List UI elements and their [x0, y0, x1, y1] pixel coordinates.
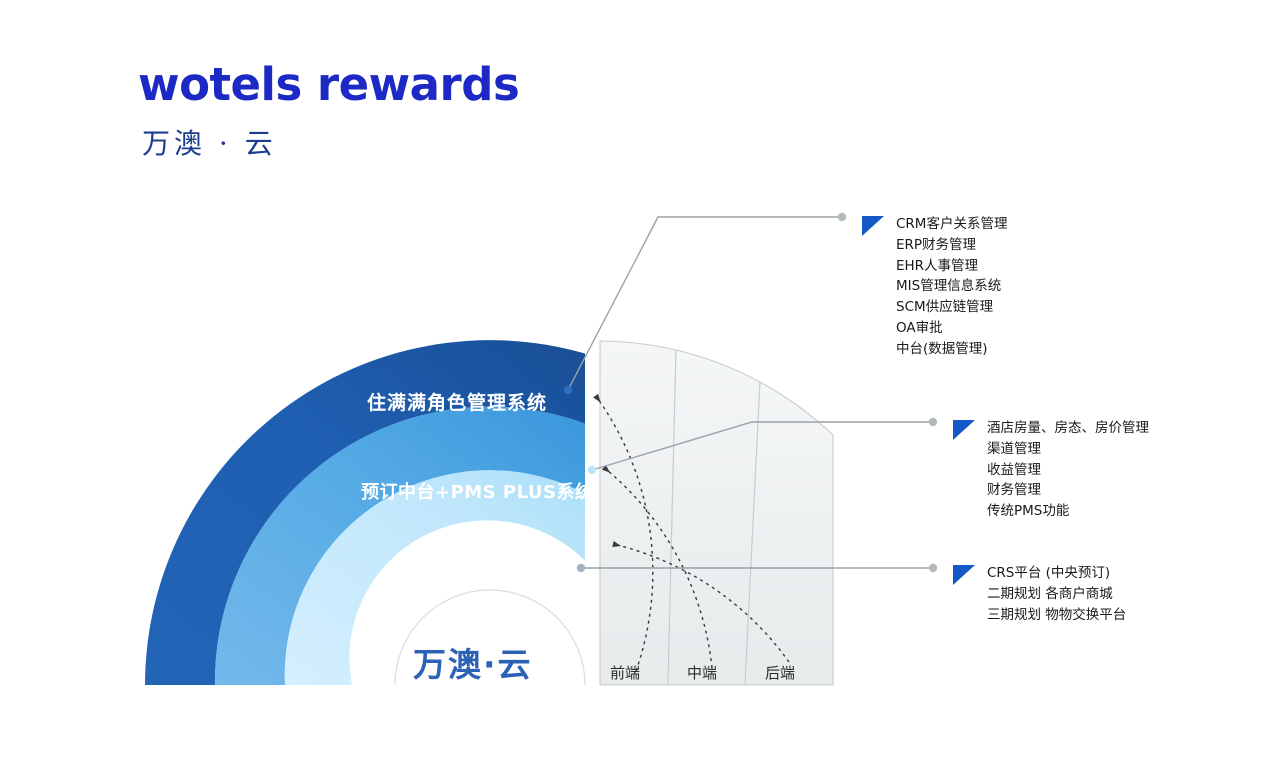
callout-item: EHR人事管理 — [896, 256, 1007, 277]
connector-anchor-dot-2 — [588, 466, 596, 474]
callout-item: 收益管理 — [987, 460, 1149, 481]
triangle-marker-icon — [953, 565, 975, 585]
tier-label-back: 后端 — [765, 662, 795, 683]
callout-item: CRS平台 (中央预订) — [987, 563, 1126, 584]
tier-band-front-end[interactable] — [600, 341, 676, 685]
tier-band-back-end[interactable] — [745, 382, 833, 685]
tier-label-front: 前端 — [610, 662, 640, 683]
callout-item: 渠道管理 — [987, 439, 1149, 460]
callout-item: 三期规划 物物交换平台 — [987, 605, 1126, 626]
callout-item: 传统PMS功能 — [987, 501, 1149, 522]
connector-end-dot-2 — [929, 418, 937, 426]
ring-label-outer: 住满满角色管理系统 — [367, 388, 547, 415]
connector-anchor-dot-1 — [564, 386, 572, 394]
callout-item: 二期规划 各商户商城 — [987, 584, 1126, 605]
triangle-marker-icon — [862, 216, 884, 236]
callout-item: 财务管理 — [987, 480, 1149, 501]
ring-label-inner: 万澳会(会员平台) — [389, 556, 528, 581]
callout-item: 酒店房量、房态、房价管理 — [987, 418, 1149, 439]
tier-label-middle: 中端 — [687, 662, 717, 683]
diagram-center-label: 万澳·云 — [413, 638, 533, 686]
callout-item: MIS管理信息系统 — [896, 276, 1007, 297]
callout-item: CRM客户关系管理 — [896, 214, 1007, 235]
callout-list-2: 酒店房量、房态、房价管理渠道管理收益管理财务管理传统PMS功能 — [987, 418, 1149, 522]
ring-label-middle: 预订中台+PMS PLUS系统 — [361, 478, 594, 504]
slide-canvas: wotels rewards 万澳 · 云 — [0, 0, 1280, 765]
callout-item: 中台(数据管理) — [896, 339, 1007, 360]
connector-anchor-dot-3 — [577, 564, 585, 572]
connector-end-dot-1 — [838, 213, 846, 221]
tier-band-middle-end[interactable] — [668, 350, 760, 685]
callout-item: OA审批 — [896, 318, 1007, 339]
callout-list-3: CRS平台 (中央预订)二期规划 各商户商城三期规划 物物交换平台 — [987, 563, 1126, 625]
callout-item: ERP财务管理 — [896, 235, 1007, 256]
triangle-marker-icon — [953, 420, 975, 440]
callout-list-1: CRM客户关系管理ERP财务管理EHR人事管理MIS管理信息系统SCM供应链管理… — [896, 214, 1007, 360]
connector-end-dot-3 — [929, 564, 937, 572]
tier-band-group — [600, 341, 833, 685]
callout-item: SCM供应链管理 — [896, 297, 1007, 318]
architecture-fan-diagram — [0, 0, 1280, 765]
